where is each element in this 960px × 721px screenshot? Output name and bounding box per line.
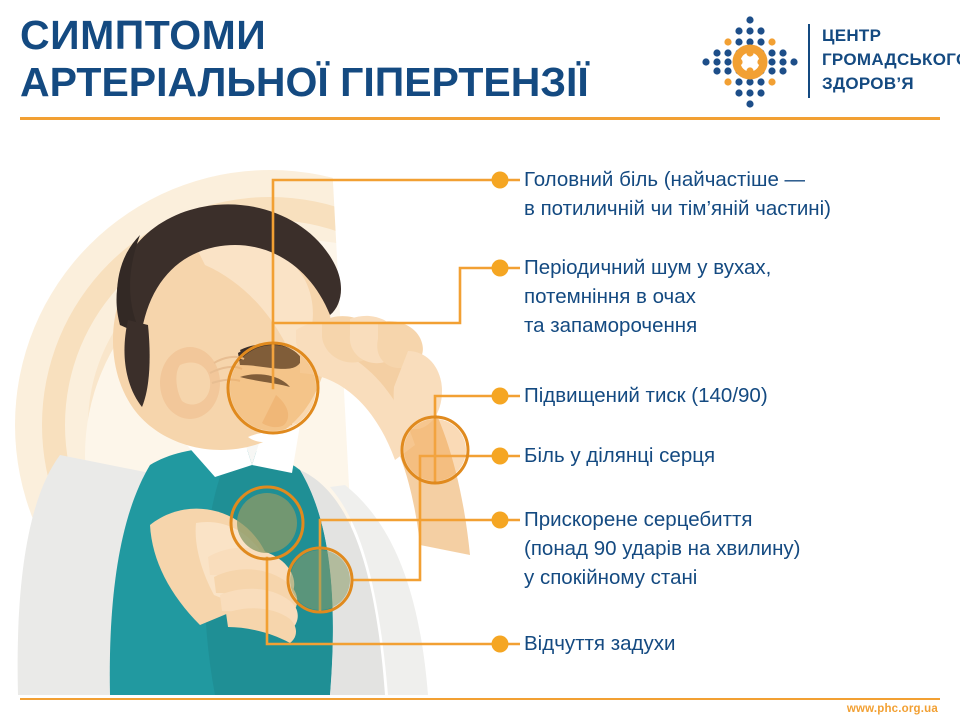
bullet-icon-6	[492, 636, 509, 653]
symptom-2-line-1: Періодичний шум у вухах,	[524, 253, 954, 282]
symptom-1-line-1: Головний біль (найчастіше —	[524, 165, 954, 194]
symptom-5-line-3: у спокійному стані	[524, 563, 954, 592]
logo-text-line-2: ГРОМАДСЬКОГО	[822, 48, 960, 72]
bullet-icon-3	[492, 388, 509, 405]
symptom-4-line-1: Біль у ділянці серця	[524, 441, 954, 470]
bullet-icon-5	[492, 512, 509, 529]
logo-text-line-1: ЦЕНТР	[822, 24, 960, 48]
symptom-item-2: Періодичний шум у вухах, потемніння в оч…	[524, 253, 954, 340]
bullet-icon-1	[492, 172, 509, 189]
symptom-3-line-1: Підвищений тиск (140/90)	[524, 381, 954, 410]
symptom-5-line-1: Прискорене серцебиття	[524, 505, 954, 534]
page-title-line-1: СИМПТОМИ	[20, 12, 680, 59]
symptom-item-5: Прискорене серцебиття (понад 90 ударів н…	[524, 505, 954, 592]
symptom-2-line-3: та запаморочення	[524, 311, 954, 340]
symptom-6-line-1: Відчуття задухи	[524, 629, 954, 658]
bullet-icon-4	[492, 448, 509, 465]
logo-wordmark: ЦЕНТР ГРОМАДСЬКОГО ЗДОРОВ’Я	[822, 24, 960, 96]
symptom-item-6: Відчуття задухи	[524, 629, 954, 658]
symptom-5-line-2: (понад 90 ударів на хвилину)	[524, 534, 954, 563]
symptom-2-line-2: потемніння в очах	[524, 282, 954, 311]
footer-website-url[interactable]: www.phc.org.ua	[847, 703, 938, 715]
footer-divider	[20, 698, 940, 700]
header-divider	[20, 117, 940, 120]
bullet-icon-2	[492, 260, 509, 277]
symptom-list: Головний біль (найчастіше — в потиличній…	[0, 125, 960, 695]
symptom-item-3: Підвищений тиск (140/90)	[524, 381, 954, 410]
logo-text-line-3: ЗДОРОВ’Я	[822, 72, 960, 96]
logo-divider	[808, 24, 810, 98]
symptom-1-line-2: в потиличній чи тім’яній частині)	[524, 194, 954, 223]
phc-dot-diamond-logo-icon	[700, 14, 800, 110]
infographic-page: СИМПТОМИ АРТЕРІАЛЬНОЇ ГІПЕРТЕНЗІЇ	[0, 0, 960, 721]
page-title: СИМПТОМИ АРТЕРІАЛЬНОЇ ГІПЕРТЕНЗІЇ	[20, 12, 680, 106]
symptom-item-4: Біль у ділянці серця	[524, 441, 954, 470]
page-title-line-2: АРТЕРІАЛЬНОЇ ГІПЕРТЕНЗІЇ	[20, 59, 680, 106]
symptom-item-1: Головний біль (найчастіше — в потиличній…	[524, 165, 954, 223]
brand-logo: ЦЕНТР ГРОМАДСЬКОГО ЗДОРОВ’Я	[700, 14, 950, 110]
